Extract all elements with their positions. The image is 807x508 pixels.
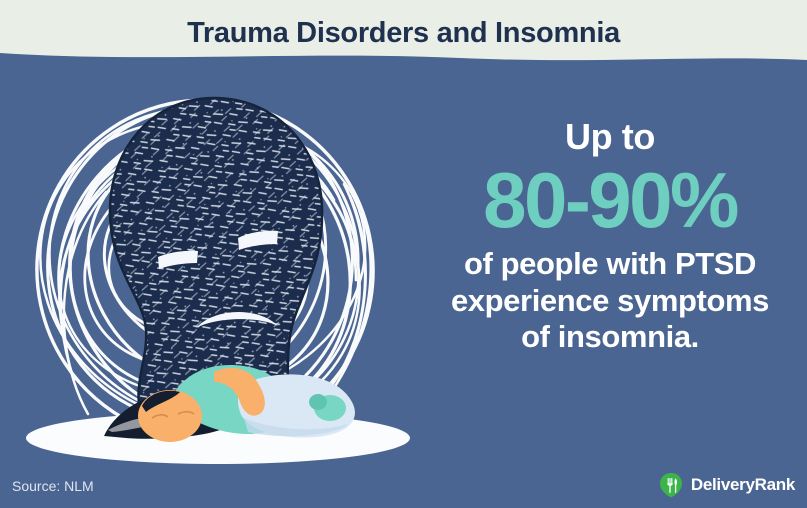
source-citation: Source: NLM [12, 478, 94, 494]
brand-name: DeliveryRank [691, 475, 795, 495]
deliveryrank-leaf-icon [658, 472, 684, 498]
page-title: Trauma Disorders and Insomnia [0, 17, 807, 50]
infographic-root: Trauma Disorders and Insomnia Up to 80-9… [0, 0, 807, 508]
brand-logo[interactable]: DeliveryRank [658, 470, 795, 500]
stat-value: 80-90% [420, 158, 800, 242]
stat-description-line-2: experience symptoms [420, 283, 800, 320]
stat-block: Up to 80-90% of people with PTSD experie… [420, 118, 800, 356]
stat-prefix-label: Up to [420, 118, 800, 156]
insomnia-illustration [0, 58, 440, 470]
stat-description: of people with PTSD experience symptoms … [420, 246, 800, 356]
stat-description-line-3: of insomnia. [420, 319, 800, 356]
stat-description-line-1: of people with PTSD [420, 246, 800, 283]
